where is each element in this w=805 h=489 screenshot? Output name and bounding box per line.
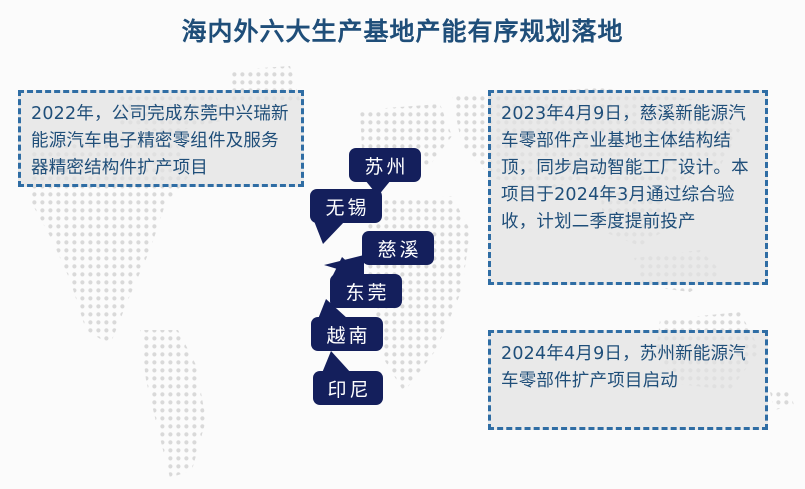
base-label-suzhou[interactable]: 苏州 — [349, 148, 421, 182]
base-label-indonesia[interactable]: 印尼 — [313, 371, 383, 405]
bubble-tail-indonesia — [322, 351, 351, 373]
info-panel-suzhou: 2024年4月9日，苏州新能源汽车零部件扩产项目启动 — [488, 330, 768, 430]
base-label-cixi[interactable]: 慈溪 — [362, 231, 434, 265]
base-label-wuxi[interactable]: 无锡 — [310, 189, 382, 223]
info-panel-cixi: 2023年4月9日，慈溪新能源汽车零部件产业基地主体结构结顶，同步启动智能工厂设… — [488, 90, 768, 285]
base-label-dongguan[interactable]: 东莞 — [330, 274, 402, 308]
slide-canvas: 海内外六大生产基地产能有序规划落地 2022年，公司完成东莞中兴瑞新能源汽车电子… — [0, 0, 805, 489]
page-title: 海内外六大生产基地产能有序规划落地 — [0, 12, 805, 48]
info-panel-dongguan: 2022年，公司完成东莞中兴瑞新能源汽车电子精密零组件及服务器精密结构件扩产项目 — [18, 90, 304, 187]
bubble-tail-wuxi — [314, 221, 345, 244]
base-label-vietnam[interactable]: 越南 — [311, 317, 383, 351]
